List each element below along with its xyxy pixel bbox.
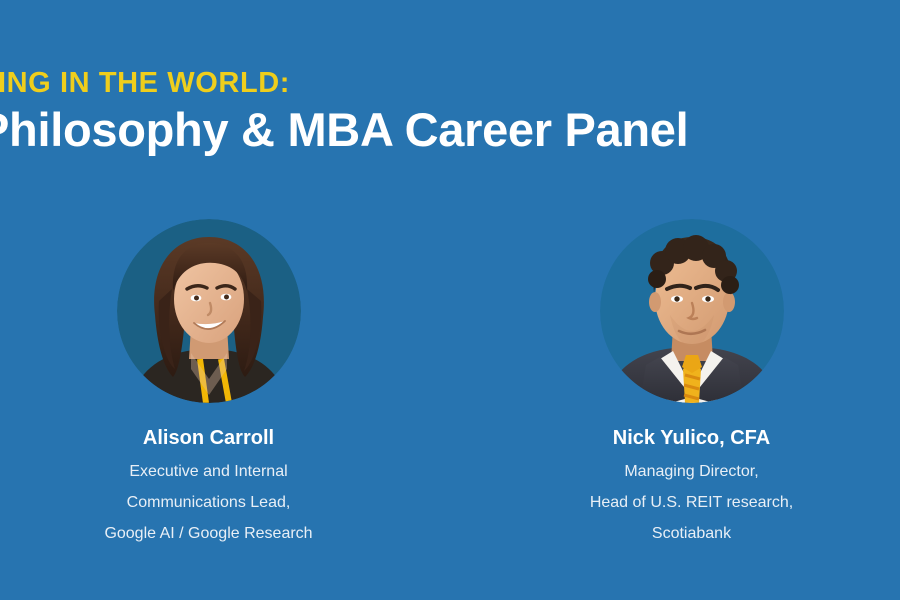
bio-line: Executive and Internal [104, 456, 312, 487]
panelist-bio: Executive and Internal Communications Le… [104, 456, 312, 549]
panelist-bio: Managing Director, Head of U.S. REIT res… [590, 456, 793, 549]
bio-line: Managing Director, [590, 456, 793, 487]
panelist-name: Alison Carroll [143, 425, 274, 451]
panelist-name: Nick Yulico, CFA [613, 425, 770, 451]
alison-carroll-headshot-icon [117, 219, 301, 403]
poster-eyebrow: EING IN THE WORLD: [0, 66, 900, 100]
panelist-list: Alison Carroll Executive and Internal Co… [0, 219, 900, 549]
bio-line: Head of U.S. REIT research, [590, 487, 793, 518]
event-poster: EING IN THE WORLD: Philosophy & MBA Care… [0, 0, 900, 600]
avatar [600, 219, 784, 403]
panelist-card: Alison Carroll Executive and Internal Co… [66, 219, 352, 549]
panelist-card: Nick Yulico, CFA Managing Director, Head… [549, 219, 835, 549]
bio-line: Communications Lead, [104, 487, 312, 518]
title-block: EING IN THE WORLD: Philosophy & MBA Care… [0, 66, 900, 158]
bio-line: Scotiabank [590, 518, 793, 549]
bio-line: Google AI / Google Research [104, 518, 312, 549]
avatar [117, 219, 301, 403]
poster-headline: Philosophy & MBA Career Panel [0, 102, 900, 158]
nick-yulico-headshot-icon [600, 219, 784, 403]
